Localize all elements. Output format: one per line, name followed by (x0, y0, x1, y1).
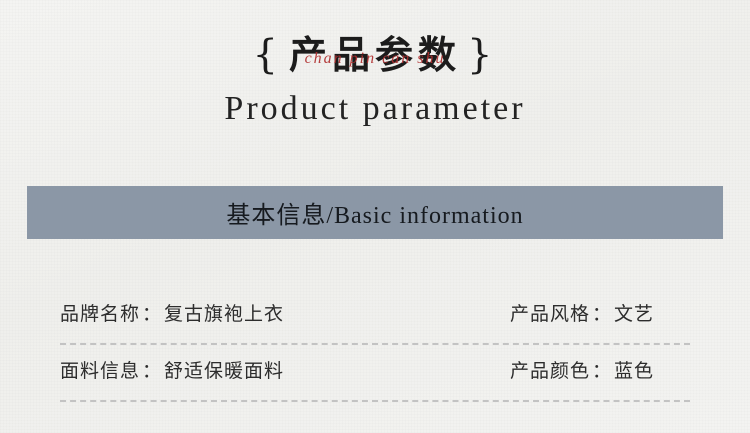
section-banner-label: 基本信息/Basic information (226, 195, 523, 230)
param-colon: ： (140, 299, 164, 326)
param-value: 复古旗袍上衣 (164, 299, 284, 326)
parameter-table: 品牌名称：复古旗袍上衣 产品风格：文艺 面料信息：舒适保暖面料 产品颜色：蓝色 (60, 288, 690, 402)
param-cell-brand-name: 品牌名称：复古旗袍上衣 (60, 299, 510, 326)
param-value: 文艺 (614, 299, 654, 326)
page-title-cn: {产品参数} (0, 30, 750, 80)
title-close-brace: } (461, 32, 503, 78)
param-label: 面料信息 (60, 356, 140, 383)
param-value: 舒适保暖面料 (164, 356, 284, 383)
param-label: 产品颜色 (510, 356, 590, 383)
row-divider (60, 400, 690, 402)
page-header: {产品参数} chan pin can shu Product paramete… (0, 0, 750, 165)
param-label: 品牌名称 (60, 299, 140, 326)
table-row: 品牌名称：复古旗袍上衣 产品风格：文艺 (60, 288, 690, 345)
param-cell-product-style: 产品风格：文艺 (510, 299, 690, 326)
param-colon: ： (590, 356, 614, 383)
param-label: 产品风格 (510, 299, 590, 326)
param-colon: ： (590, 299, 614, 326)
title-cn-wrapper: {产品参数} (0, 30, 750, 86)
page-title-en: Product parameter (0, 88, 750, 130)
param-cell-product-color: 产品颜色：蓝色 (510, 356, 690, 383)
section-banner-basic-information: 基本信息/Basic information (27, 186, 723, 239)
title-cn-text: 产品参数 (289, 32, 461, 77)
param-value: 蓝色 (614, 356, 654, 383)
table-row: 面料信息：舒适保暖面料 产品颜色：蓝色 (60, 345, 690, 402)
param-cell-fabric-information: 面料信息：舒适保暖面料 (60, 356, 510, 383)
title-open-brace: { (247, 32, 289, 78)
param-colon: ： (140, 356, 164, 383)
